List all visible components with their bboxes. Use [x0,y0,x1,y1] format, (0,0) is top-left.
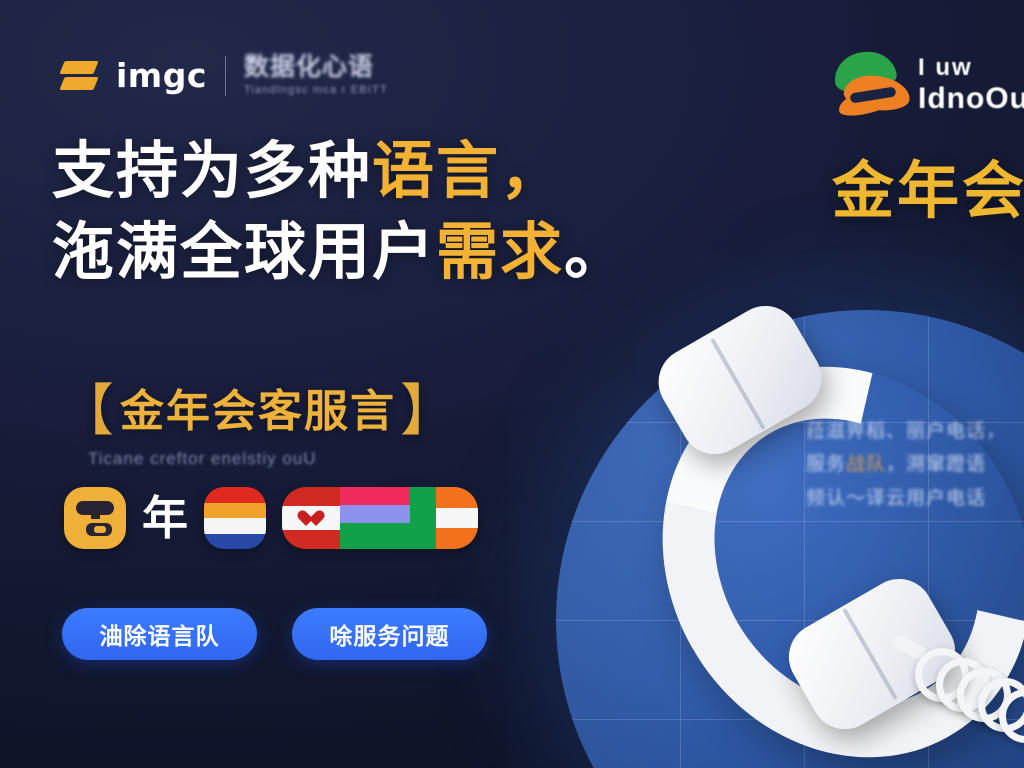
flag-strip-gambia[interactable] [340,487,410,549]
flag-strip-group[interactable] [282,487,478,549]
headline-line-1: 支持为多种语言， [52,132,692,213]
page-title: 支持为多种语言， 沲满全球用户需求。 [52,132,692,293]
banner-canvas: imgc 数据化心语 Tiandlngsc mca r EBITT 支持为多种语… [0,0,1024,768]
gold-app-icon[interactable] [64,487,126,549]
sub-brand-cn: 数据化心语 [244,55,388,80]
action-buttons: 浀除语言队 唋服务问题 [62,608,487,660]
headline-l2-tail: 。 [564,218,628,287]
sub-brand: 数据化心语 Tiandlngsc mca r EBITT [244,55,388,96]
right-brand-cn-title: 金年会 [832,140,1024,230]
imgc-mark-icon [62,59,98,93]
headline-l1-white: 支持为多种 [52,137,372,206]
headline-l1-tail: ， [500,137,564,206]
gold-tag-subtitle: Ticane creftor enelstiy ouU [88,449,458,469]
sub-brand-en: Tiandlngsc mca r EBITT [244,85,388,96]
bracket-right-icon: 】 [400,366,458,447]
year-character: 年 [142,495,188,541]
heart-icon [302,511,320,527]
brand-divider [225,56,226,96]
btn-remove-language-team[interactable]: 浀除语言队 [62,608,257,660]
right-brand-logo: I uw IdnoOu [830,48,1024,120]
right-brand-line-2: IdnoOu [918,84,1024,114]
headline-l1-gold: 语言 [372,137,500,206]
wordmark: imgc [116,56,207,95]
btn-service-question[interactable]: 唋服务问题 [292,608,487,660]
brand-bar: imgc 数据化心语 Tiandlngsc mca r EBITT [62,55,388,96]
right-brand-line-1: I uw [918,56,1024,80]
flag-strip-green[interactable] [410,487,436,549]
headline-l2-gold: 需求 [436,218,564,287]
flag-four-band[interactable] [204,487,266,549]
flag-strip-canada[interactable] [282,487,340,549]
gold-tag-block: 【 金年会客服言 】 Ticane creftor enelstiy ouU [58,366,458,469]
flag-strip-ireland[interactable] [436,487,478,549]
bracket-left-icon: 【 [58,366,116,447]
right-brand-text: I uw IdnoOu [918,48,1024,114]
headline-line-2: 沲满全球用户需求。 [52,213,692,294]
leaf-logo-icon [830,48,908,120]
gold-tag-text: 金年会客服言 [120,375,396,439]
gold-tag: 【 金年会客服言 】 [58,366,458,447]
headline-l2-white: 沲满全球用户 [52,218,436,287]
flag-row: 年 [64,487,478,549]
